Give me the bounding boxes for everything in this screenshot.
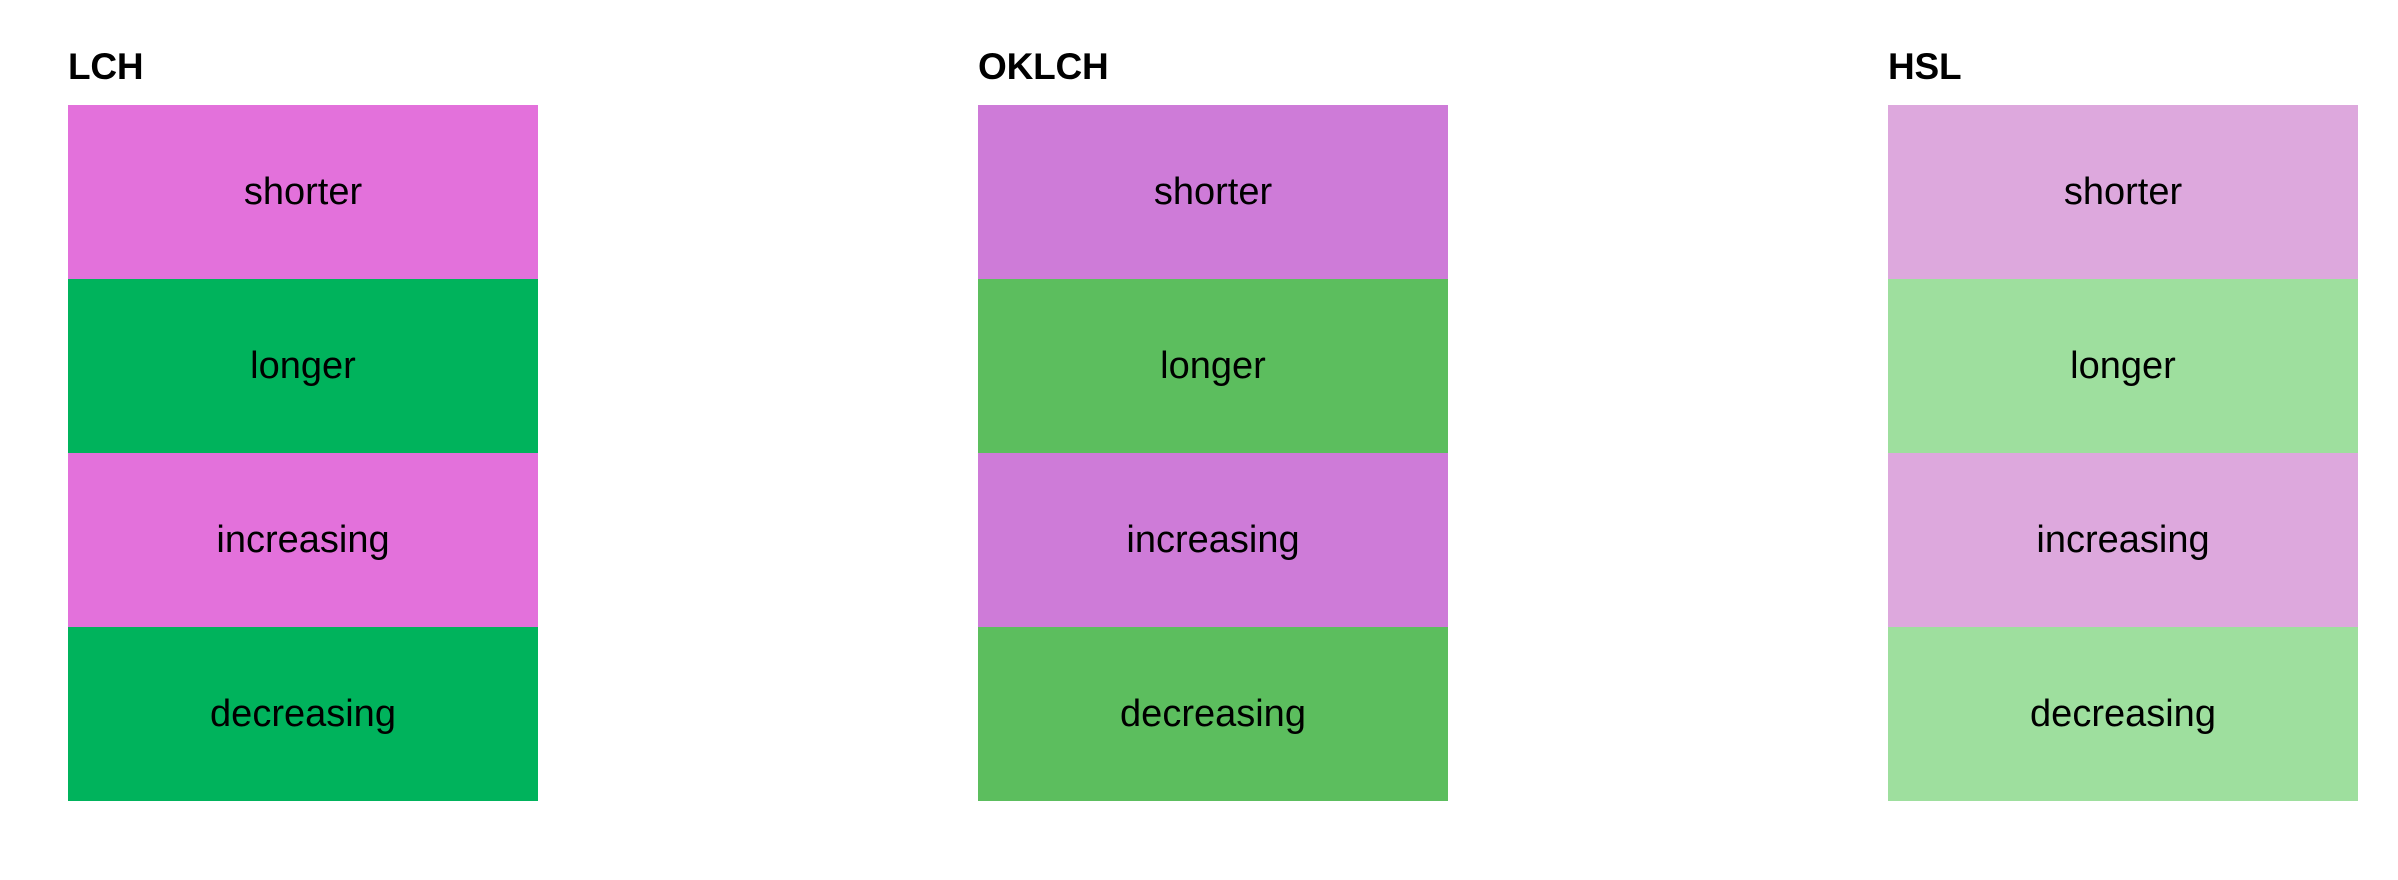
- swatch-label-oklch-increasing: increasing: [1126, 521, 1299, 559]
- swatch-hsl-shorter: shorter: [1888, 105, 2358, 279]
- color-space-columns: LCH shorter longer increasing decreasing…: [68, 48, 2398, 801]
- swatch-label-oklch-decreasing: decreasing: [1120, 695, 1306, 733]
- swatch-lch-decreasing: decreasing: [68, 627, 538, 801]
- swatch-oklch-longer: longer: [978, 279, 1448, 453]
- swatch-lch-shorter: shorter: [68, 105, 538, 279]
- swatch-stack-hsl: shorter longer increasing decreasing: [1888, 105, 2358, 801]
- swatch-hsl-decreasing: decreasing: [1888, 627, 2358, 801]
- swatch-stack-lch: shorter longer increasing decreasing: [68, 105, 538, 801]
- swatch-oklch-increasing: increasing: [978, 453, 1448, 627]
- swatch-label-hsl-shorter: shorter: [2064, 173, 2182, 211]
- color-interpolation-board: LCH shorter longer increasing decreasing…: [0, 0, 2398, 880]
- swatch-stack-oklch: shorter longer increasing decreasing: [978, 105, 1448, 801]
- column-title-oklch: OKLCH: [978, 48, 1448, 85]
- swatch-oklch-shorter: shorter: [978, 105, 1448, 279]
- swatch-label-hsl-longer: longer: [2070, 347, 2176, 385]
- column-title-hsl: HSL: [1888, 48, 2358, 85]
- color-space-column-oklch: OKLCH shorter longer increasing decreasi…: [978, 48, 1448, 801]
- swatch-label-lch-shorter: shorter: [244, 173, 362, 211]
- color-space-column-lch: LCH shorter longer increasing decreasing: [68, 48, 538, 801]
- swatch-label-hsl-decreasing: decreasing: [2030, 695, 2216, 733]
- swatch-hsl-increasing: increasing: [1888, 453, 2358, 627]
- swatch-hsl-longer: longer: [1888, 279, 2358, 453]
- swatch-label-hsl-increasing: increasing: [2036, 521, 2209, 559]
- swatch-oklch-decreasing: decreasing: [978, 627, 1448, 801]
- color-space-column-hsl: HSL shorter longer increasing decreasing: [1888, 48, 2358, 801]
- swatch-lch-increasing: increasing: [68, 453, 538, 627]
- swatch-label-oklch-shorter: shorter: [1154, 173, 1272, 211]
- column-title-lch: LCH: [68, 48, 538, 85]
- swatch-label-oklch-longer: longer: [1160, 347, 1266, 385]
- swatch-label-lch-decreasing: decreasing: [210, 695, 396, 733]
- swatch-label-lch-increasing: increasing: [216, 521, 389, 559]
- swatch-label-lch-longer: longer: [250, 347, 356, 385]
- swatch-lch-longer: longer: [68, 279, 538, 453]
